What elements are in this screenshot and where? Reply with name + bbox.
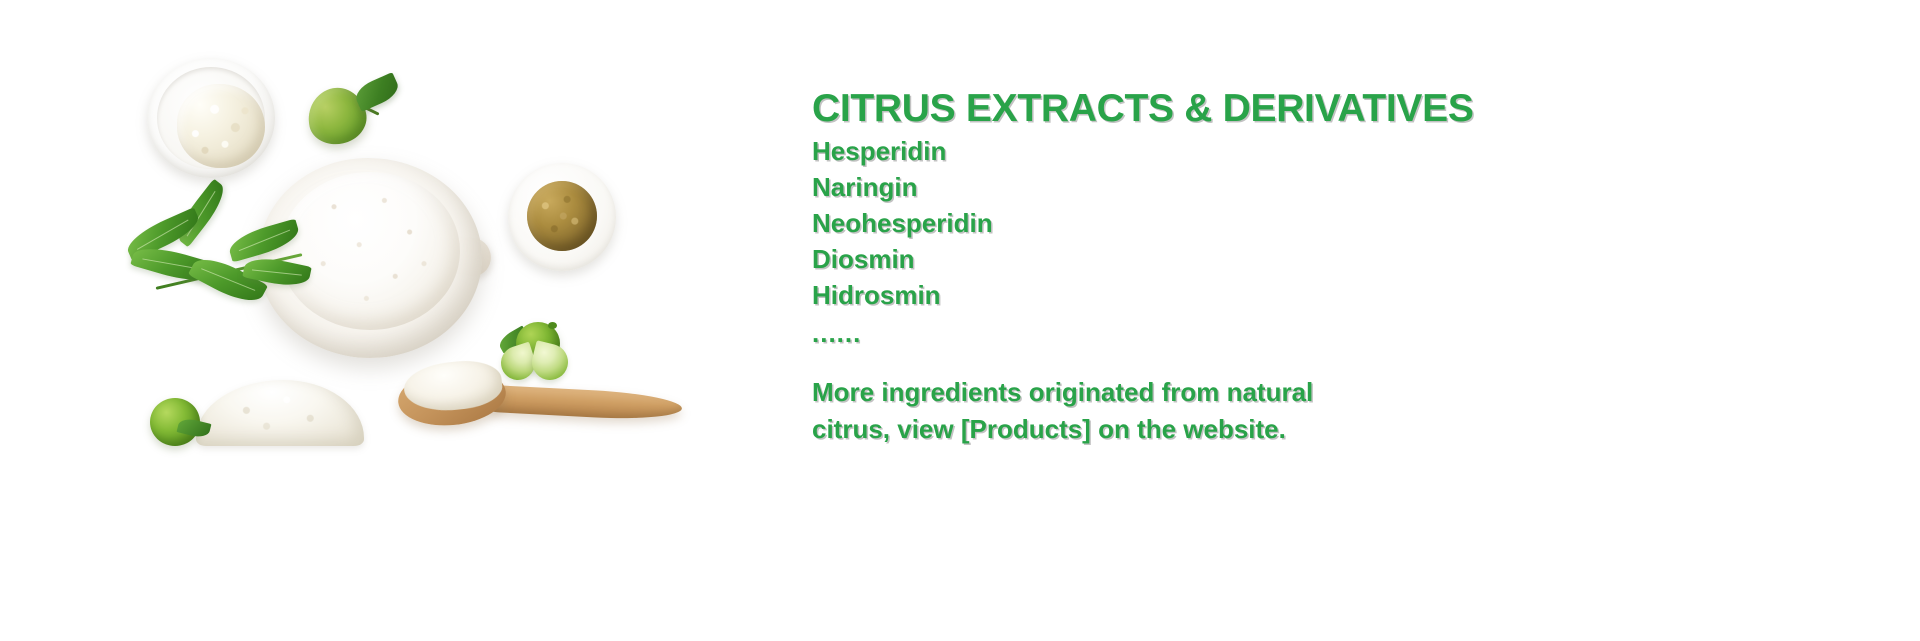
product-photo-composition [0,0,790,641]
list-item: Naringin [812,169,993,205]
pale-powder [177,84,265,168]
small-dish-brown-powder [508,163,616,271]
citrus-product-banner: CITRUS EXTRACTS & DERIVATIVES Hesperidin… [0,0,1920,641]
lime-wedge [528,340,572,384]
list-ellipsis: ...... [812,315,861,351]
list-item: Hidrosmin [812,277,993,313]
tagline: More ingredients originated from natural… [812,374,1412,448]
powder-pile [196,380,364,446]
page-title: CITRUS EXTRACTS & DERIVATIVES [812,88,1474,129]
dish-rim [157,67,265,169]
list-item: Hesperidin [812,133,993,169]
list-item: Neohesperidin [812,205,993,241]
list-item: Diosmin [812,241,993,277]
banner-text-column: CITRUS EXTRACTS & DERIVATIVES Hesperidin… [812,0,1912,641]
ingredient-list: Hesperidin Naringin Neohesperidin Diosmi… [812,133,993,313]
tagline-line-2: citrus, view [Products] on the website. [812,411,1412,448]
brown-powder [527,181,597,251]
small-dish-pale-powder [147,58,275,178]
tagline-line-1: More ingredients originated from natural [812,374,1412,411]
lime-stem [548,322,557,329]
wooden-spoon-handle [491,385,682,422]
citrus-leaf-branch [118,196,318,326]
pear-leaf [352,72,402,112]
